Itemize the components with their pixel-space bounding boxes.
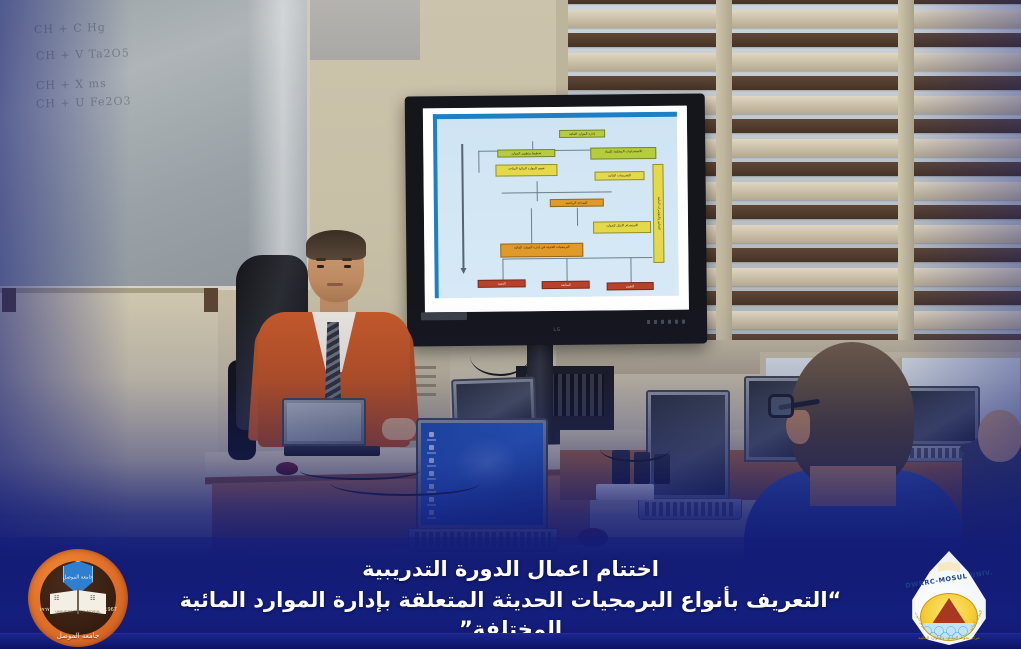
display-port-row — [647, 320, 689, 324]
diagram-connector — [576, 207, 577, 225]
whiteboard-note: CH + V Ta2O5 — [36, 46, 130, 62]
desktop-icon[interactable] — [429, 432, 434, 437]
desktop-icon-label — [427, 517, 436, 519]
slide-diagram-box: المعايير والمؤشرات المائية — [653, 164, 664, 262]
book-page-glyph: ☷ — [90, 595, 95, 602]
presenter-hand — [382, 418, 416, 440]
window-mullion — [898, 0, 914, 354]
book-page-glyph: ☷ — [54, 595, 59, 602]
slide-diagram-box: التشريعات المائية — [595, 171, 645, 180]
slide-diagram-box: البرمجيات الحديثة في إدارة الموارد المائ… — [500, 242, 583, 257]
diagram-connector — [479, 150, 480, 172]
diagram-connector — [567, 258, 568, 282]
panel-bracket — [2, 288, 16, 312]
slide-diagram-box: التقييم — [606, 282, 654, 290]
diagram-connector — [631, 258, 632, 284]
slide-diagram-box: تقييم الموارد المائية المتاحة — [495, 164, 557, 177]
diagram-connector — [503, 259, 504, 281]
presenter-eye — [317, 265, 324, 268]
blind-slat — [568, 76, 1021, 90]
desk-cable — [330, 470, 480, 496]
slide-diagram-box: الاستخدامات المختلفة للمياه — [590, 147, 656, 160]
presenter-eyebrow — [316, 258, 326, 261]
logo-emblem-circle — [920, 593, 978, 641]
panel-bracket — [204, 288, 218, 312]
desktop-icon[interactable] — [429, 458, 434, 463]
blind-slat — [568, 0, 1021, 4]
whiteboard-note: CH + X ms — [36, 77, 107, 92]
whiteboard-note: CH + U Fe2O3 — [36, 94, 132, 110]
slide-diagram-box: الاستخدام الامثل للموارد — [593, 221, 651, 234]
power-strip — [596, 484, 654, 500]
power-cable — [600, 436, 670, 462]
blind-slat — [568, 10, 1021, 28]
slide-diagram: إدارة الموارد المائيةتخطيط وتطوير الموار… — [433, 112, 679, 299]
display-brand-label: LG — [553, 327, 561, 333]
whiteboard-glare — [247, 0, 307, 290]
screenshot-root: CH + C Hg CH + V Ta2O5 CH + X ms CH + U … — [0, 0, 1021, 649]
blind-slat — [568, 33, 1021, 47]
mid-right-laptop-keyboard[interactable] — [638, 498, 742, 520]
logo-bottom-text: مركز بحوث السدود والموارد المائية — [901, 635, 997, 640]
attendee-far-right-head — [978, 410, 1021, 462]
desktop-icon-label — [427, 465, 436, 467]
desktop-icon[interactable] — [429, 445, 434, 450]
attendee-front-neck — [810, 466, 896, 506]
logo-year-left: ١٩٦٧ — [39, 607, 50, 613]
desktop-icon[interactable] — [429, 497, 434, 502]
dwrrc-mosul-univ-logo: DWRRC-MOSUL UNIV. مركز بحوث الموارد الما… — [901, 549, 997, 649]
logo-shield-text: جامعة الموصل — [63, 575, 93, 581]
eyeglasses-lens — [768, 394, 794, 418]
keyboard-keys — [645, 502, 735, 516]
diagram-arrow-head — [460, 268, 466, 274]
whiteboard-note: CH + C Hg — [34, 21, 106, 36]
slide-diagram-box: النمذجة الرياضية — [549, 198, 603, 207]
slide-diagram-box: المتابعة — [542, 281, 590, 289]
title-banner: اختتام اعمال الدورة التدريبية “التعريف ب… — [0, 537, 1021, 649]
banner-bottom-stripe — [0, 633, 1021, 649]
display-sticker — [421, 312, 467, 320]
logo-ring-text: جامعة الموصل — [28, 632, 128, 640]
banner-text-block: اختتام اعمال الدورة التدريبية “التعريف ب… — [150, 555, 871, 643]
desktop-icon-label — [427, 439, 436, 441]
presenter-laptop[interactable] — [282, 398, 366, 446]
slide-diagram-box: التنفيذ — [478, 280, 526, 288]
logo-year-right: 1967 — [104, 607, 117, 613]
presenter-hair — [306, 230, 366, 260]
display-screen: إدارة الموارد المائيةتخطيط وتطوير الموار… — [423, 106, 689, 313]
presenter-laptop-lid — [287, 403, 361, 441]
far-right-laptop-screen — [905, 391, 975, 441]
university-of-mosul-logo: جامعة الموصل ☷ ☷ UNIVERSITY OF MOSUL ١٩٦… — [28, 549, 128, 647]
diagram-flow-arrow — [461, 144, 464, 269]
desktop-icon-label — [427, 452, 436, 454]
slide-diagram-box: إدارة الموارد المائية — [559, 130, 605, 138]
desktop-icon[interactable] — [429, 510, 434, 515]
presenter-mouth — [327, 283, 343, 286]
diagram-connector — [502, 191, 612, 193]
banner-headline: اختتام اعمال الدورة التدريبية — [150, 555, 871, 583]
slide-diagram-box: تخطيط وتطوير الموارد — [497, 149, 555, 158]
wall-panel-left — [0, 288, 218, 518]
mountain-icon — [932, 598, 966, 624]
presenter-eye — [344, 265, 351, 268]
display-cable — [470, 336, 530, 376]
whiteboard: CH + C Hg CH + V Ta2O5 CH + X ms CH + U … — [0, 0, 310, 290]
presenter-eyebrow — [342, 258, 352, 261]
presentation-display: إدارة الموارد المائيةتخطيط وتطوير الموار… — [405, 93, 708, 346]
window-mullion — [716, 0, 732, 354]
blind-slat — [568, 53, 1021, 71]
presenter-mouse[interactable] — [276, 462, 298, 475]
desktop-icon-label — [427, 504, 436, 506]
presenter-laptop-base — [284, 446, 380, 456]
